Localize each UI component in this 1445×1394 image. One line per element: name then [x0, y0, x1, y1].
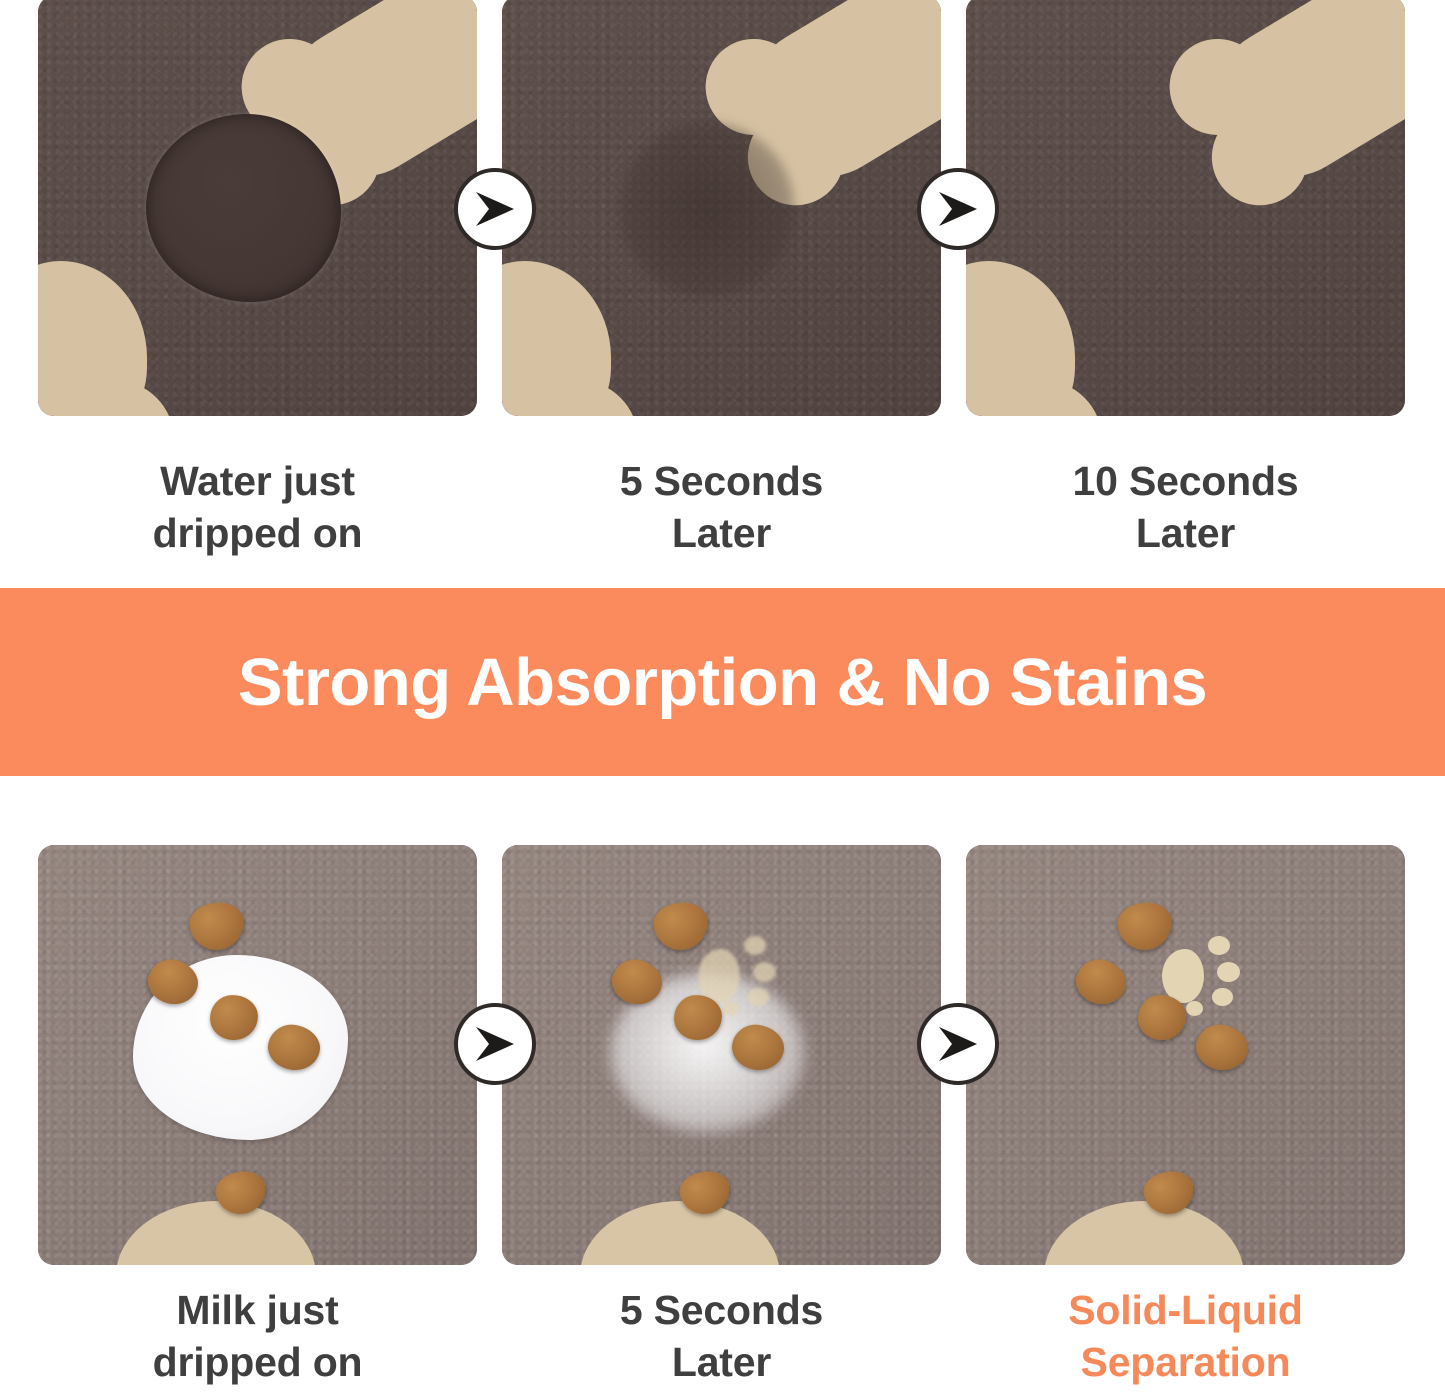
- caption-line: Water just: [38, 455, 477, 507]
- paw-pad: [1162, 949, 1204, 1003]
- caption-line: Later: [502, 1336, 941, 1388]
- caption-line: Separation: [966, 1336, 1405, 1388]
- water-stain-faded: [620, 122, 795, 297]
- caption-milk-5-seconds: 5 Seconds Later: [502, 1284, 941, 1389]
- arrow-right-icon: [917, 168, 999, 250]
- milk-panel-separation: [966, 845, 1405, 1265]
- caption-line: Solid-Liquid: [966, 1284, 1405, 1336]
- water-sequence-photo-row: [38, 0, 1405, 416]
- caption-milk-just-dripped: Milk just dripped on: [38, 1284, 477, 1389]
- caption-line: 5 Seconds: [502, 1284, 941, 1336]
- caption-line: dripped on: [38, 1336, 477, 1388]
- milk-sequence-captions: Milk just dripped on 5 Seconds Later Sol…: [38, 1284, 1405, 1389]
- water-sequence-captions: Water just dripped on 5 Seconds Later 10…: [38, 455, 1405, 560]
- banner-headline: Strong Absorption & No Stains: [238, 644, 1207, 721]
- caption-line: Later: [966, 507, 1405, 559]
- paw-toe: [1186, 1001, 1203, 1016]
- caption-water-5-seconds: 5 Seconds Later: [502, 455, 941, 560]
- water-panel-just-dripped: [38, 0, 477, 416]
- caption-line: Milk just: [38, 1284, 477, 1336]
- arrow-right-icon: [454, 1003, 536, 1085]
- caption-water-10-seconds: 10 Seconds Later: [966, 455, 1405, 560]
- caption-line: 5 Seconds: [502, 455, 941, 507]
- caption-solid-liquid-separation: Solid-Liquid Separation: [966, 1284, 1405, 1389]
- milk-panel-5-seconds: [502, 845, 941, 1265]
- caption-water-just-dripped: Water just dripped on: [38, 455, 477, 560]
- paw-toe: [748, 988, 769, 1006]
- paw-toe: [1208, 936, 1230, 955]
- water-puddle: [146, 114, 341, 302]
- paw-toe: [1217, 962, 1240, 982]
- water-panel-10-seconds: [966, 0, 1405, 416]
- caption-line: dripped on: [38, 507, 477, 559]
- paw-pad: [698, 949, 740, 1003]
- water-panel-5-seconds: [502, 0, 941, 416]
- milk-panel-just-dripped: [38, 845, 477, 1265]
- paw-toe: [722, 1001, 739, 1016]
- caption-line: Later: [502, 507, 941, 559]
- arrow-right-icon: [917, 1003, 999, 1085]
- paw-toe: [753, 962, 776, 982]
- milk-sequence-photo-row: [38, 845, 1405, 1265]
- absorption-infographic: Water just dripped on 5 Seconds Later 10…: [0, 0, 1445, 1394]
- arrow-right-icon: [454, 168, 536, 250]
- paw-toe: [744, 936, 766, 955]
- paw-toe: [1212, 988, 1233, 1006]
- headline-banner: Strong Absorption & No Stains: [0, 588, 1445, 776]
- caption-line: 10 Seconds: [966, 455, 1405, 507]
